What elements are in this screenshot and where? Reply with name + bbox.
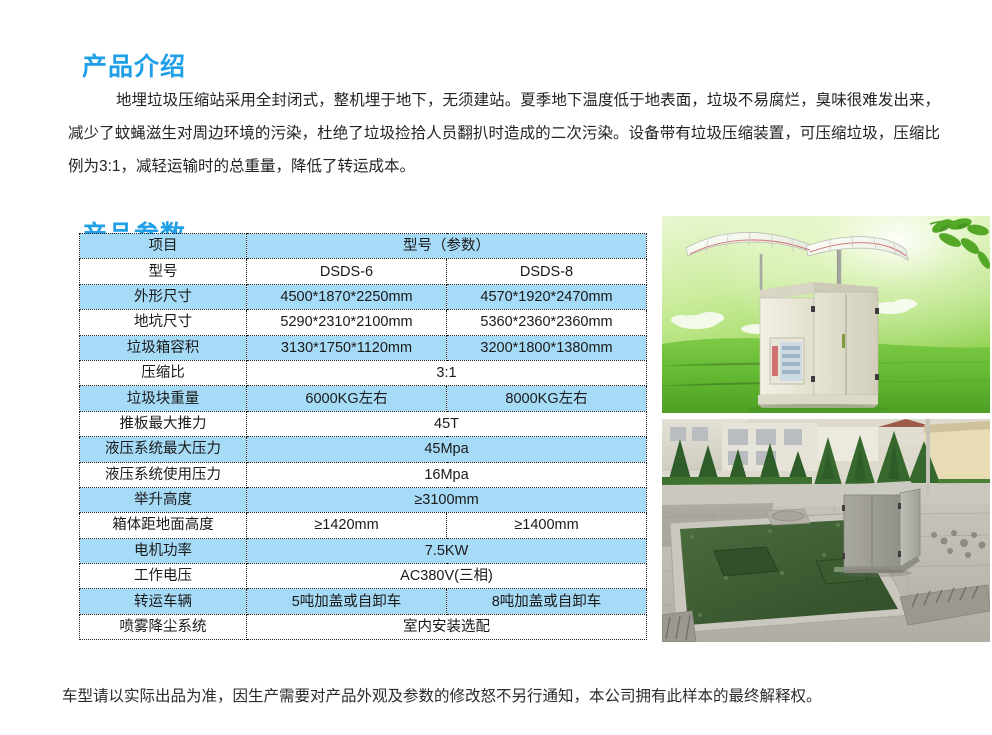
param-name-cell: 工作电压 [80,564,247,589]
param-name-cell: 电机功率 [80,538,247,563]
param-name-cell: 转运车辆 [80,589,247,614]
table-row: 垃圾箱容积3130*1750*1120mm3200*1800*1380mm [80,335,647,360]
param-name-cell: 喷雾降尘系统 [80,614,247,639]
param-value-cell-dsds8: 8吨加盖或自卸车 [447,589,647,614]
param-name-cell: 压缩比 [80,360,247,385]
table-row: 箱体距地面高度≥1420mm≥1400mm [80,513,647,538]
table-row: 工作电压AC380V(三相) [80,564,647,589]
table-row: 举升高度≥3100mm [80,487,647,512]
param-name-cell: 型号 [80,259,247,284]
param-value-cell-merged: 45T [247,411,647,436]
param-name-cell: 地坑尺寸 [80,310,247,335]
table-row: 型号DSDS-6DSDS-8 [80,259,647,284]
table-row: 转运车辆5吨加盖或自卸车8吨加盖或自卸车 [80,589,647,614]
param-value-cell-dsds6: 5290*2310*2100mm [247,310,447,335]
param-value-cell-dsds6: ≥1420mm [247,513,447,538]
param-name-cell: 举升高度 [80,487,247,512]
param-value-cell-merged: 室内安装选配 [247,614,647,639]
disclaimer-note: 车型请以实际出品为准，因生产需要对产品外观及参数的修改怒不另行通知，本公司拥有此… [62,684,942,710]
param-name-cell: 推板最大推力 [80,411,247,436]
param-value-cell-dsds6: 3130*1750*1120mm [247,335,447,360]
product-parameters-table: 项目型号（参数）型号DSDS-6DSDS-8外形尺寸4500*1870*2250… [79,233,647,640]
param-name-cell: 箱体距地面高度 [80,513,247,538]
table-row: 推板最大推力45T [80,411,647,436]
param-value-cell-merged: 7.5KW [247,538,647,563]
table-row: 压缩比3:1 [80,360,647,385]
param-value-cell-dsds8: 8000KG左右 [447,386,647,411]
param-value-cell-dsds6: 6000KG左右 [247,386,447,411]
product-intro-paragraph: 地埋垃圾压缩站采用全封闭式，整机埋于地下，无须建站。夏季地下温度低于地表面，垃圾… [68,84,940,183]
param-value-cell-dsds6: DSDS-6 [247,259,447,284]
page-title-product-intro: 产品介绍 [82,47,186,83]
table-row: 外形尺寸4500*1870*2250mm4570*1920*2470mm [80,284,647,309]
param-value-cell-merged: 型号（参数） [247,234,647,259]
param-name-cell: 外形尺寸 [80,284,247,309]
param-value-cell-dsds6: 5吨加盖或自卸车 [247,589,447,614]
table-row: 液压系统最大压力45Mpa [80,437,647,462]
table-row: 垃圾块重量6000KG左右8000KG左右 [80,386,647,411]
param-value-cell-dsds8: ≥1400mm [447,513,647,538]
table-row: 喷雾降尘系统室内安装选配 [80,614,647,639]
param-value-cell-dsds8: 4570*1920*2470mm [447,284,647,309]
table-row: 电机功率7.5KW [80,538,647,563]
param-value-cell-merged: 3:1 [247,360,647,385]
table-row: 地坑尺寸5290*2310*2100mm5360*2360*2360mm [80,310,647,335]
table-row: 液压系统使用压力16Mpa [80,462,647,487]
param-name-cell: 液压系统使用压力 [80,462,247,487]
param-value-cell-dsds8: 3200*1800*1380mm [447,335,647,360]
param-value-cell-merged: 16Mpa [247,462,647,487]
param-name-cell: 液压系统最大压力 [80,437,247,462]
param-value-cell-merged: ≥3100mm [247,487,647,512]
param-value-cell-dsds6: 4500*1870*2250mm [247,284,447,309]
param-name-cell: 垃圾箱容积 [80,335,247,360]
param-value-cell-merged: AC380V(三相) [247,564,647,589]
table-row: 项目型号（参数） [80,234,647,259]
param-value-cell-dsds8: 5360*2360*2360mm [447,310,647,335]
param-name-cell: 项目 [80,234,247,259]
param-value-cell-dsds8: DSDS-8 [447,259,647,284]
param-value-cell-merged: 45Mpa [247,437,647,462]
param-name-cell: 垃圾块重量 [80,386,247,411]
installation-site-photo [662,419,990,642]
product-render-photo [662,216,990,413]
